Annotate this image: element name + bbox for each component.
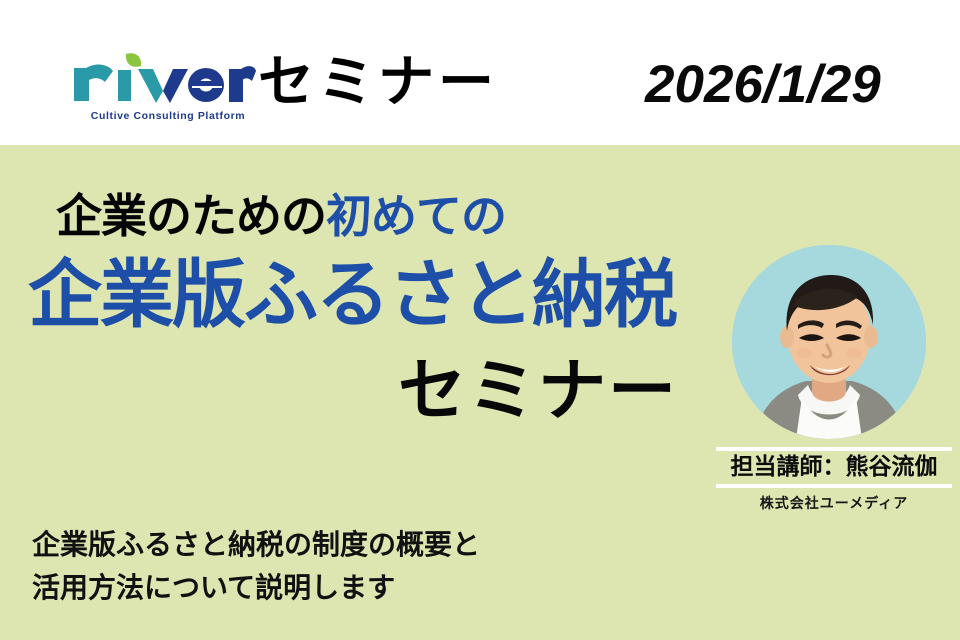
title-line-1-blue: 初めての	[326, 189, 506, 243]
speaker-name: 担当講師：熊谷流伽	[716, 453, 952, 482]
instructor-photo	[732, 245, 926, 439]
header-seminar-label: セミナー	[258, 55, 498, 111]
river-wordmark-svg	[66, 48, 256, 110]
title-line-2: 企業版ふるさと納税	[28, 258, 676, 332]
title-line-1: 企業のための初めての	[56, 193, 506, 239]
title-line-1-black: 企業のための	[56, 189, 326, 243]
title-line-3: セミナー	[398, 357, 678, 425]
main-content: 企業のための初めての 企業版ふるさと納税 セミナー 企業版ふるさと納税の制度の概…	[0, 145, 960, 640]
speaker-credit: 担当講師：熊谷流伽 株式会社ユーメディア	[716, 447, 952, 513]
river-wordmark	[66, 48, 256, 110]
speaker-rule-top	[716, 447, 952, 451]
seminar-flyer: Cultive Consulting Platform セミナー 2026/1/…	[0, 0, 960, 640]
river-logo: Cultive Consulting Platform	[66, 48, 256, 138]
logo-tagline: Cultive Consulting Platform	[80, 110, 256, 122]
description-text: 企業版ふるさと納税の制度の概要と 活用方法について説明します	[32, 523, 480, 610]
speaker-organization: 株式会社ユーメディア	[716, 493, 952, 513]
header-date: 2026/1/29	[645, 58, 881, 111]
instructor-portrait-illustration	[732, 245, 926, 439]
speaker-rule-bottom	[716, 484, 952, 488]
header-bar: Cultive Consulting Platform セミナー 2026/1/…	[0, 0, 960, 145]
